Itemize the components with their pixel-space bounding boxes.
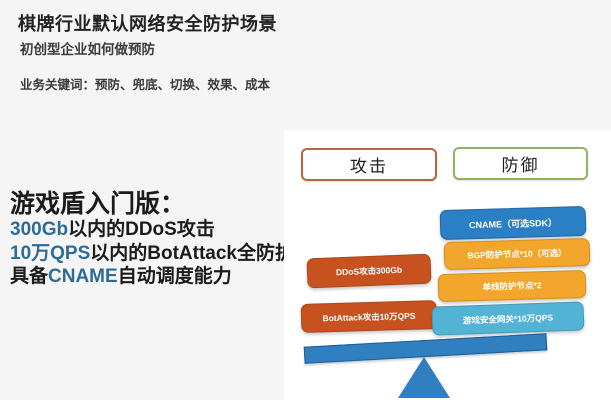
slide-subtitle: 初创型企业如何做预防	[20, 38, 155, 58]
copy-line-3-rest: 自动调度能力	[118, 266, 232, 287]
product-copy-line-2: 10万QPS以内的BotAttack全防护	[10, 242, 300, 266]
copy-line-2-highlight: 10万QPS	[10, 243, 90, 264]
copy-line-2-rest: 以内的BotAttack全防护	[90, 243, 294, 264]
category-box-defense: 防御	[453, 147, 588, 180]
attack-card-botattack: BotAttack攻击10万QPS	[301, 300, 438, 333]
product-copy-line-3: 具备CNAME自动调度能力	[10, 265, 300, 289]
business-keywords: 业务关键词：预防、兜底、切换、效果、成本	[20, 74, 270, 93]
copy-line-3-highlight: CNAME	[48, 266, 118, 287]
product-copy-heading: 游戏盾入门版：	[10, 190, 300, 218]
seesaw-fulcrum-triangle	[398, 357, 450, 398]
defense-card-bgp-node: BGP防护节点*10（可选）	[444, 238, 591, 270]
slide-title: 棋牌行业默认网络安全防护场景	[18, 10, 277, 36]
category-box-attack: 攻击	[301, 148, 437, 181]
defense-card-single-line-node: 单线防护节点*2	[438, 270, 587, 302]
copy-line-1-highlight: 300Gb	[10, 219, 68, 240]
defense-card-game-security-gateway: 游戏安全网关*10万QPS	[432, 301, 585, 335]
copy-line-1-rest: 以内的DDoS攻击	[68, 219, 215, 240]
copy-line-3-prefix: 具备	[10, 266, 48, 287]
product-copy-line-1: 300Gb以内的DDoS攻击	[10, 218, 300, 242]
attack-card-ddos: DDoS攻击300Gb	[306, 254, 431, 289]
slide-canvas: 棋牌行业默认网络安全防护场景 初创型企业如何做预防 业务关键词：预防、兜底、切换…	[0, 0, 611, 400]
defense-card-cname: CNAME（可选SDK）	[440, 206, 587, 240]
product-copy-block: 游戏盾入门版： 300Gb以内的DDoS攻击 10万QPS以内的BotAttac…	[10, 190, 300, 289]
